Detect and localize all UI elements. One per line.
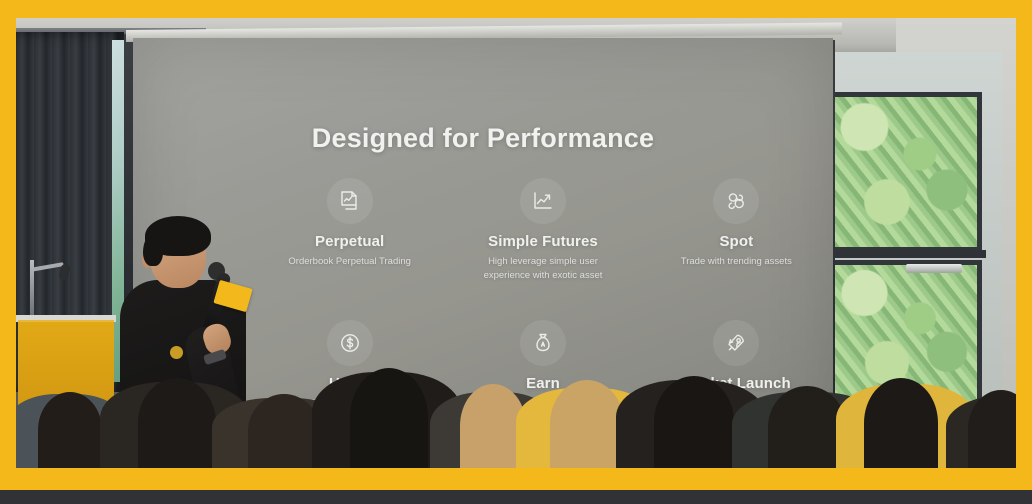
audience-member xyxy=(350,368,428,468)
door-handle xyxy=(906,264,962,273)
feature-title: Perpetual xyxy=(315,233,384,250)
feature-description: Orderbook Perpetual Trading xyxy=(288,255,411,269)
mic-stand xyxy=(30,260,34,316)
audience-member xyxy=(768,386,846,468)
slide-title: Designed for Performance xyxy=(133,123,833,154)
feature-card-perpetual: Perpetual Orderbook Perpetual Trading xyxy=(253,178,446,283)
window-pane-top xyxy=(822,92,982,252)
feature-grid-row-1: Perpetual Orderbook Perpetual Trading Si… xyxy=(253,178,833,283)
audience-member xyxy=(864,378,938,468)
feature-description: High leverage simple user experience wit… xyxy=(480,255,605,283)
feature-description: Trade with trending assets xyxy=(681,255,792,269)
window-mullion xyxy=(818,250,986,258)
feature-title: Simple Futures xyxy=(488,233,598,250)
presentation-photograph: Designed for Performance Perpetual Order… xyxy=(16,18,1016,468)
feature-card-spot: Spot Trade with trending assets xyxy=(640,178,833,283)
coins-circles-icon xyxy=(713,178,759,224)
audience xyxy=(16,338,1016,468)
audience-member xyxy=(138,378,216,468)
yellow-photo-frame: Designed for Performance Perpetual Order… xyxy=(0,0,1032,504)
audience-member xyxy=(248,394,320,468)
feature-card-simple-futures: Simple Futures High leverage simple user… xyxy=(446,178,639,283)
speaker-hair-side xyxy=(143,232,163,266)
feature-title: Spot xyxy=(719,233,753,250)
audience-member xyxy=(550,380,624,468)
audience-member xyxy=(654,376,734,468)
document-chart-icon xyxy=(327,178,373,224)
line-chart-up-icon xyxy=(520,178,566,224)
audience-member xyxy=(38,392,102,468)
